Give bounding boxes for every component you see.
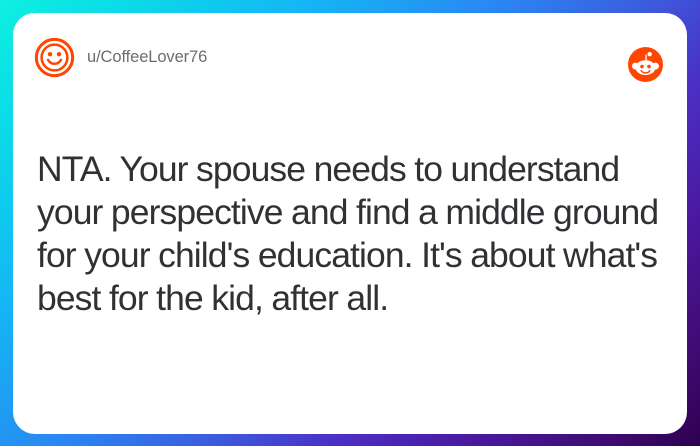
- reddit-snoo-logo-icon[interactable]: [628, 47, 663, 82]
- author-username: u/CoffeeLover76: [87, 49, 207, 66]
- reddit-post-card: u/CoffeeLover76 NTA. Your spouse needs t…: [13, 13, 687, 434]
- smiley-face-avatar-icon[interactable]: [34, 37, 75, 78]
- gradient-backdrop: u/CoffeeLover76 NTA. Your spouse needs t…: [0, 0, 700, 446]
- author-block[interactable]: u/CoffeeLover76: [34, 37, 207, 78]
- post-body-text: NTA. Your spouse needs to understand you…: [37, 148, 673, 320]
- post-header: u/CoffeeLover76: [13, 13, 687, 108]
